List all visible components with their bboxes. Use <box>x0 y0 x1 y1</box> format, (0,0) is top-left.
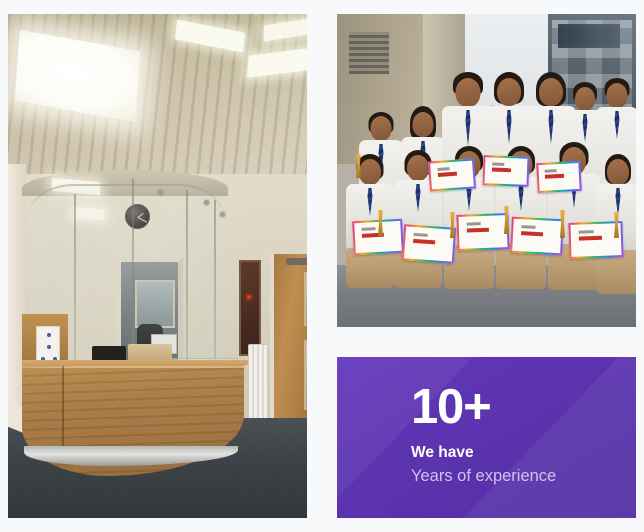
face <box>607 83 628 108</box>
experience-card-content: 10+ We have Years of experience <box>411 383 622 504</box>
face <box>497 78 521 106</box>
award-certificate <box>482 155 529 187</box>
door-vision-panel <box>304 272 307 326</box>
experience-stat-number: 10+ <box>411 383 622 432</box>
award-certificate <box>536 161 582 193</box>
poster-figure <box>47 345 51 349</box>
students-award-photo[interactable] <box>337 14 636 327</box>
reception-photo[interactable] <box>8 14 307 518</box>
face <box>607 159 629 185</box>
glass-mullion <box>186 190 188 382</box>
award-certificate <box>428 158 476 191</box>
face <box>413 112 434 137</box>
experience-stat-label: We have <box>411 444 622 461</box>
glass-fitting <box>220 212 225 217</box>
face <box>575 87 595 111</box>
page-root: 10+ We have Years of experience <box>0 0 644 532</box>
door-closer <box>286 258 307 265</box>
award-certificate <box>402 224 456 264</box>
reception-scene <box>8 14 307 518</box>
glass-mullion <box>214 200 216 376</box>
face <box>407 155 429 181</box>
poster-figure <box>47 333 51 337</box>
wooden-door <box>270 254 307 434</box>
status-led-icon <box>247 295 251 299</box>
years-of-experience-card[interactable]: 10+ We have Years of experience <box>337 357 636 518</box>
award-certificate <box>510 217 564 256</box>
radiator <box>248 344 268 422</box>
face <box>371 116 392 141</box>
glass-fitting <box>158 190 163 195</box>
experience-stat-sublabel: Years of experience <box>411 467 622 486</box>
face <box>456 78 481 107</box>
award-certificate <box>352 219 404 256</box>
framed-notice <box>239 260 261 356</box>
face <box>539 78 563 106</box>
door-vision-panel <box>304 340 307 410</box>
glass-mullion <box>74 194 76 376</box>
glass-fitting <box>204 200 209 205</box>
award-certificate <box>456 213 509 251</box>
building-signage <box>558 24 620 48</box>
face <box>359 159 381 185</box>
